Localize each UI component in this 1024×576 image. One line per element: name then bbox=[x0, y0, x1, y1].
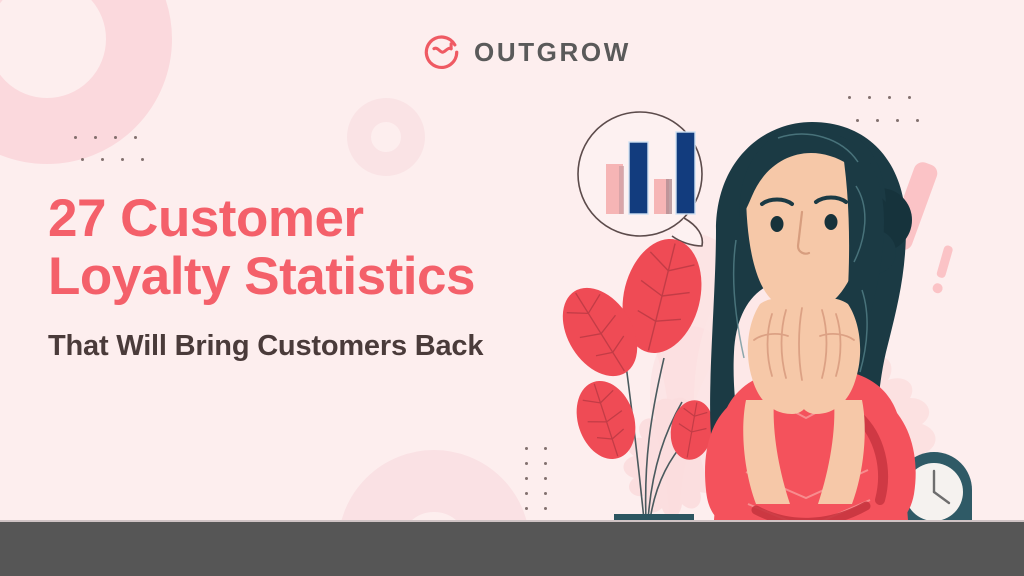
illustration-svg bbox=[540, 100, 1024, 576]
outgrow-g-mark-icon bbox=[423, 33, 461, 71]
floor-bar bbox=[0, 522, 1024, 576]
brand-logo[interactable]: OUTGROW bbox=[423, 33, 631, 71]
eye-right bbox=[825, 214, 838, 230]
thought-bubble bbox=[578, 112, 702, 246]
headline-line-2: Loyalty Statistics bbox=[48, 248, 568, 306]
headline-line-1: 27 Customer bbox=[48, 190, 568, 248]
eye-left bbox=[771, 216, 784, 232]
subheadline: That Will Bring Customers Back bbox=[48, 329, 568, 363]
hero-illustration bbox=[540, 100, 1024, 576]
ring-decor-center bbox=[347, 98, 425, 176]
ring-decor-top-left bbox=[0, 0, 172, 164]
headline: 27 Customer Loyalty Statistics bbox=[48, 190, 568, 306]
brand-wordmark: OUTGROW bbox=[474, 39, 631, 65]
banner-canvas: OUTGROW 27 Customer Loyalty Statistics T… bbox=[0, 0, 1024, 576]
dot-grid-left bbox=[74, 136, 154, 180]
copy-block: 27 Customer Loyalty Statistics That Will… bbox=[48, 190, 568, 363]
